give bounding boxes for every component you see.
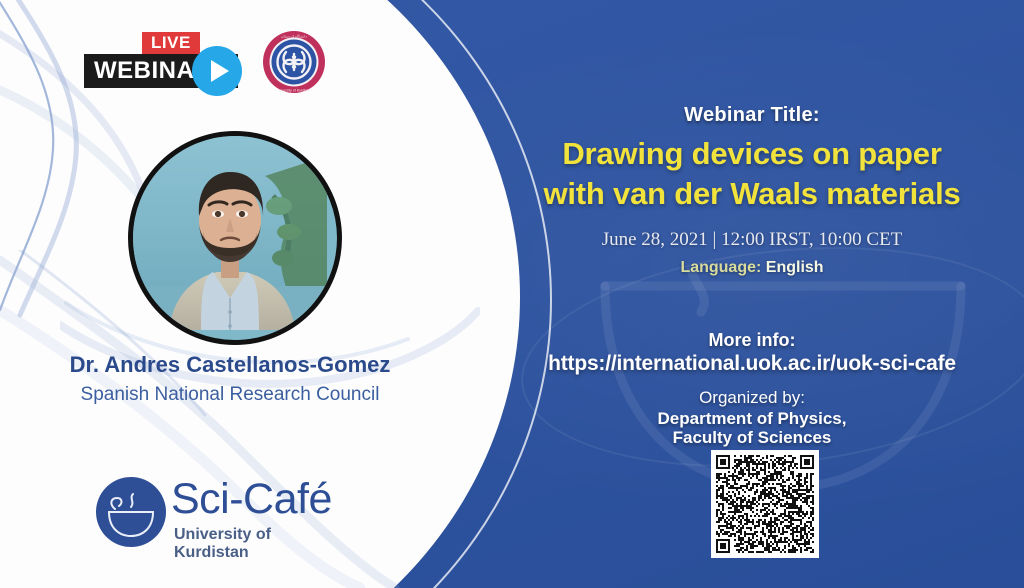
play-icon [192,46,242,96]
webinar-poster: LIVE WEBINAR دانشگاه کردستان University … [0,0,1024,588]
webinar-title-label: Webinar Title: [480,104,1024,127]
live-tag: LIVE [142,32,200,54]
language-label: Language: [680,259,761,276]
sci-cafe-title: Sci-Café [171,478,332,521]
qr-code[interactable] [711,450,819,558]
organizer-line-2: Faculty of Sciences [480,428,1024,448]
sci-cafe-logo: Sci-Café University of Kurdistan [95,476,340,552]
more-info-label: More info: [480,330,1024,351]
play-triangle-icon [211,60,229,82]
speaker-portrait [128,131,342,345]
datetime-text: June 28, 2021 | 12:00 IRST, 10:00 CET [480,229,1024,251]
talk-title: Drawing devices on paper with van der Wa… [480,134,1024,213]
university-of-kurdistan-seal: دانشگاه کردستان University of Kurdistan [262,30,326,94]
live-webinar-badge: LIVE WEBINAR [84,32,244,94]
speaker-name: Dr. Andres Castellanos-Gomez [0,352,460,378]
language-line: Language: English [480,259,1024,277]
sci-cafe-subtitle: University of Kurdistan [174,526,340,562]
organizer-line-1: Department of Physics, [480,409,1024,429]
talk-title-line2: with van der Waals materials [480,174,1024,214]
organized-by-label: Organized by: [480,388,1024,408]
language-value: English [766,259,824,276]
coffee-cup-icon [95,476,167,548]
more-info-url[interactable]: https://international.uok.ac.ir/uok-sci-… [480,352,1024,376]
seal-top-text: دانشگاه کردستان [281,34,307,39]
seal-bottom-text: University of Kurdistan [276,89,312,93]
talk-title-line1: Drawing devices on paper [480,134,1024,174]
speaker-affiliation: Spanish National Research Council [0,384,460,406]
